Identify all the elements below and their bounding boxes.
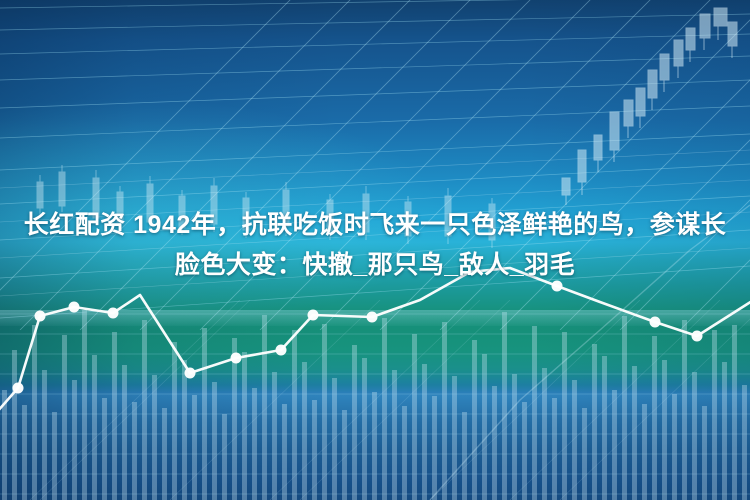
trend-line-markers	[13, 281, 703, 394]
banner-image: 长红配资 1942年，抗联吃饭时飞来一只色泽鲜艳的鸟，参谋长 脸色大变：快撤_那…	[0, 0, 750, 500]
trend-line-path	[0, 268, 750, 420]
page-title: 长红配资 1942年，抗联吃饭时飞来一只色泽鲜艳的鸟，参谋长 脸色大变：快撤_那…	[0, 205, 750, 285]
